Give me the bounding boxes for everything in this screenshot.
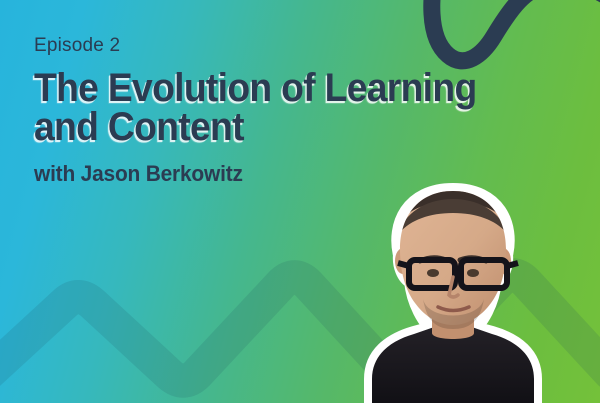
guest-portrait — [328, 173, 578, 403]
podcast-episode-cover: Episode 2 The Evolution of Learning and … — [0, 0, 600, 403]
eye-right — [467, 269, 479, 277]
eye-left — [427, 269, 439, 277]
episode-number-label: Episode 2 — [34, 36, 574, 55]
text-block: Episode 2 The Evolution of Learning and … — [34, 36, 574, 185]
episode-title: The Evolution of Learning and Content — [34, 69, 536, 147]
episode-guest-label: with Jason Berkowitz — [34, 163, 547, 185]
